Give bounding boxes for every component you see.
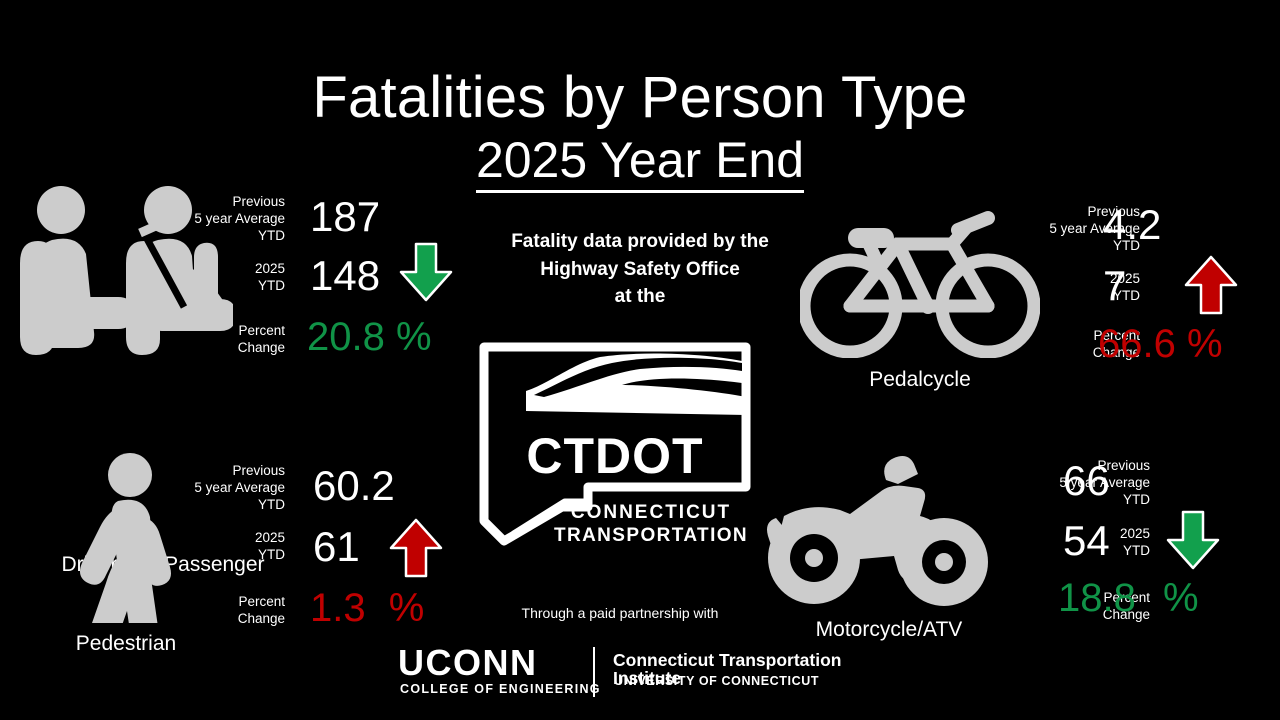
label-previous-line2: 5 year Average — [945, 475, 1150, 492]
trend-arrow-up — [1178, 252, 1244, 323]
label-current-year: 2025 YTD — [80, 261, 285, 295]
page-subtitle-text: 2025 Year End — [476, 132, 804, 193]
percent-value: 66.6 — [1098, 322, 1176, 366]
label-previous-line3: YTD — [80, 228, 285, 245]
value-previous-avg: 66 — [1063, 460, 1110, 502]
value-previous-avg: 4.2 — [1103, 204, 1161, 246]
arrow-up-icon — [383, 515, 449, 581]
uconn-wordmark: UCONN — [398, 645, 538, 681]
ctdot-sub-transportation: TRANSPORTATION — [542, 526, 760, 545]
percent-value: 1.3 — [310, 586, 366, 630]
label-current-line1: 2025 — [80, 530, 285, 547]
value-percent-change: 1.3 % — [310, 588, 424, 628]
label-previous-line3: YTD — [80, 497, 285, 514]
value-percent-change: 20.8 % — [307, 317, 432, 357]
panel-pedestrian: Pedestrian Previous 5 year Average YTD 6… — [0, 445, 470, 655]
label-previous-avg: Previous 5 year Average YTD — [80, 463, 285, 514]
label-previous-line3: YTD — [945, 492, 1150, 509]
value-current-year: 148 — [310, 255, 380, 297]
panel-driver-and-passenger: Driver and Passenger Previous 5 year Ave… — [0, 185, 470, 395]
value-current-year: 61 — [313, 526, 360, 568]
data-source-note: Fatality data provided by the Highway Sa… — [440, 228, 840, 311]
percent-symbol: % — [396, 315, 432, 359]
data-source-note-line1: Fatality data provided by the — [440, 228, 840, 256]
label-current-line1: 2025 — [80, 261, 285, 278]
value-current-year: 7 — [1103, 265, 1126, 307]
arrow-down-icon — [1160, 508, 1226, 574]
label-percent-line2: Change — [80, 611, 285, 628]
label-percent-line1: Percent — [80, 594, 285, 611]
value-previous-avg: 60.2 — [313, 465, 395, 507]
panel-label-pedalcycle: Pedalcycle — [815, 368, 1025, 392]
arrow-down-icon — [393, 240, 459, 306]
label-current-line1: 2025 — [945, 526, 1150, 543]
page-subtitle: 2025 Year End — [0, 134, 1280, 187]
uconn-college-label: COLLEGE OF ENGINEERING — [400, 683, 601, 696]
value-current-year: 54 — [1063, 520, 1110, 562]
label-previous-line1: Previous — [80, 463, 285, 480]
percent-value: 20.8 — [307, 315, 385, 359]
percent-symbol: % — [389, 586, 425, 630]
label-current-year: 2025 YTD — [80, 530, 285, 564]
value-percent-change: 18.8 % — [1058, 578, 1199, 618]
value-previous-avg: 187 — [310, 196, 380, 238]
logo-divider — [593, 647, 595, 697]
label-percent-change: Percent Change — [80, 323, 285, 357]
label-current-line2: YTD — [945, 543, 1150, 560]
ctdot-logo: CTDOT CONNECTICUT TRANSPORTATION — [470, 335, 760, 560]
label-previous-line1: Previous — [80, 194, 285, 211]
uconn-logo: UCONN COLLEGE OF ENGINEERING Connecticut… — [398, 645, 898, 701]
data-source-note-line3: at the — [440, 283, 840, 311]
panel-label-pedestrian: Pedestrian — [16, 632, 236, 656]
percent-symbol: % — [1163, 576, 1199, 620]
label-previous-line2: 5 year Average — [80, 211, 285, 228]
ctdot-wordmark: CTDOT — [470, 431, 760, 481]
label-current-year: 2025 YTD — [945, 526, 1150, 560]
label-current-line2: YTD — [80, 278, 285, 295]
label-percent-change: Percent Change — [80, 594, 285, 628]
percent-value: 18.8 — [1058, 576, 1136, 620]
panel-pedalcycle: Pedalcycle Previous 5 year Average YTD 4… — [790, 190, 1280, 400]
data-source-note-line2: Highway Safety Office — [440, 256, 840, 284]
ctdot-sub-connecticut: CONNECTICUT — [542, 503, 760, 522]
label-percent-line2: Change — [80, 340, 285, 357]
label-percent-line1: Percent — [80, 323, 285, 340]
arrow-up-icon — [1178, 252, 1244, 318]
label-previous-avg: Previous 5 year Average YTD — [80, 194, 285, 245]
label-previous-line1: Previous — [945, 458, 1150, 475]
label-previous-avg: Previous 5 year Average YTD — [945, 458, 1150, 509]
trend-arrow-down — [1160, 508, 1226, 579]
percent-symbol: % — [1187, 322, 1223, 366]
page-title: Fatalities by Person Type — [0, 68, 1280, 129]
panel-motorcycle-atv: Motorcycle/ATV Previous 5 year Average Y… — [760, 450, 1280, 650]
label-current-line2: YTD — [80, 547, 285, 564]
trend-arrow-down — [393, 240, 459, 311]
label-previous-line2: 5 year Average — [80, 480, 285, 497]
partnership-note: Through a paid partnership with — [440, 605, 800, 621]
value-percent-change: 66.6 % — [1098, 324, 1223, 364]
cti-university-label: UNIVERSITY OF CONNECTICUT — [614, 675, 819, 688]
infographic-slide: Fatalities by Person Type 2025 Year End … — [0, 0, 1280, 720]
trend-arrow-up — [383, 515, 449, 586]
